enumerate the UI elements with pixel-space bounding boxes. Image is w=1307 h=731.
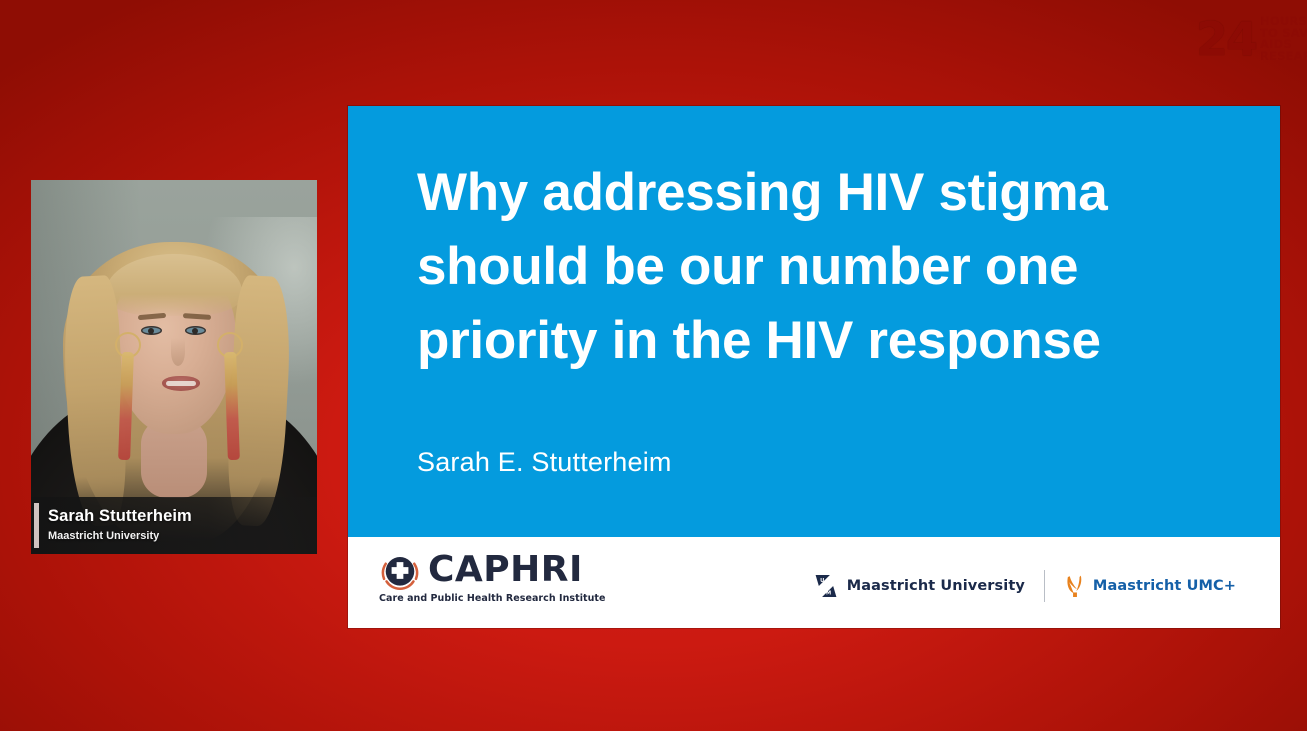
caphri-cross-circle-icon (379, 552, 421, 594)
caphri-wordmark: CAPHRI (428, 551, 606, 589)
maastricht-umc-label: Maastricht UMC+ (1093, 578, 1236, 594)
caphri-tagline: Care and Public Health Research Institut… (379, 593, 606, 605)
umc-flame-icon (1064, 573, 1086, 599)
maastricht-university-logo: U M Maastricht University (813, 573, 1025, 599)
speaker-eye-right (185, 326, 206, 335)
slide-author: Sarah E. Stutterheim (417, 447, 672, 478)
speaker-affiliation: Maastricht University (48, 529, 192, 544)
presentation-stage: 24 HOURS TO SAVE AIDS RESEARCH (0, 0, 1307, 731)
event-logo-lines: HOURS TO SAVE AIDS RESEARCH (1260, 16, 1307, 62)
presentation-slide[interactable]: Why addressing HIV stigma should be our … (348, 106, 1280, 628)
svg-text:M: M (826, 590, 831, 596)
speaker-name: Sarah Stutterheim (48, 507, 192, 526)
speaker-mouth (162, 376, 200, 391)
maastricht-umc-logo: Maastricht UMC+ (1064, 573, 1236, 599)
speaker-video-tile[interactable]: Sarah Stutterheim Maastricht University (31, 180, 317, 554)
name-plate-text: Sarah Stutterheim Maastricht University (48, 507, 192, 544)
speaker-nose (171, 338, 185, 366)
name-plate-accent-bar (34, 503, 39, 548)
logo-divider (1044, 570, 1045, 602)
slide-body: Why addressing HIV stigma should be our … (348, 106, 1280, 537)
event-logo-line-4: RESEARCH (1260, 51, 1307, 63)
event-logo: 24 HOURS TO SAVE AIDS RESEARCH (1196, 11, 1296, 67)
speaker-eye-left (141, 326, 162, 335)
maastricht-university-triangles-icon: U M (813, 573, 839, 599)
partner-logos: U M Maastricht University Maastricht UMC… (813, 570, 1236, 602)
svg-text:U: U (820, 578, 824, 584)
slide-title: Why addressing HIV stigma should be our … (417, 156, 1217, 378)
slide-footer: CAPHRI Care and Public Health Research I… (348, 537, 1280, 628)
caphri-text: CAPHRI Care and Public Health Research I… (428, 551, 606, 605)
speaker-name-plate: Sarah Stutterheim Maastricht University (31, 497, 317, 554)
caphri-logo: CAPHRI Care and Public Health Research I… (379, 551, 606, 605)
maastricht-university-label: Maastricht University (847, 578, 1025, 594)
event-logo-number: 24 (1196, 16, 1256, 62)
